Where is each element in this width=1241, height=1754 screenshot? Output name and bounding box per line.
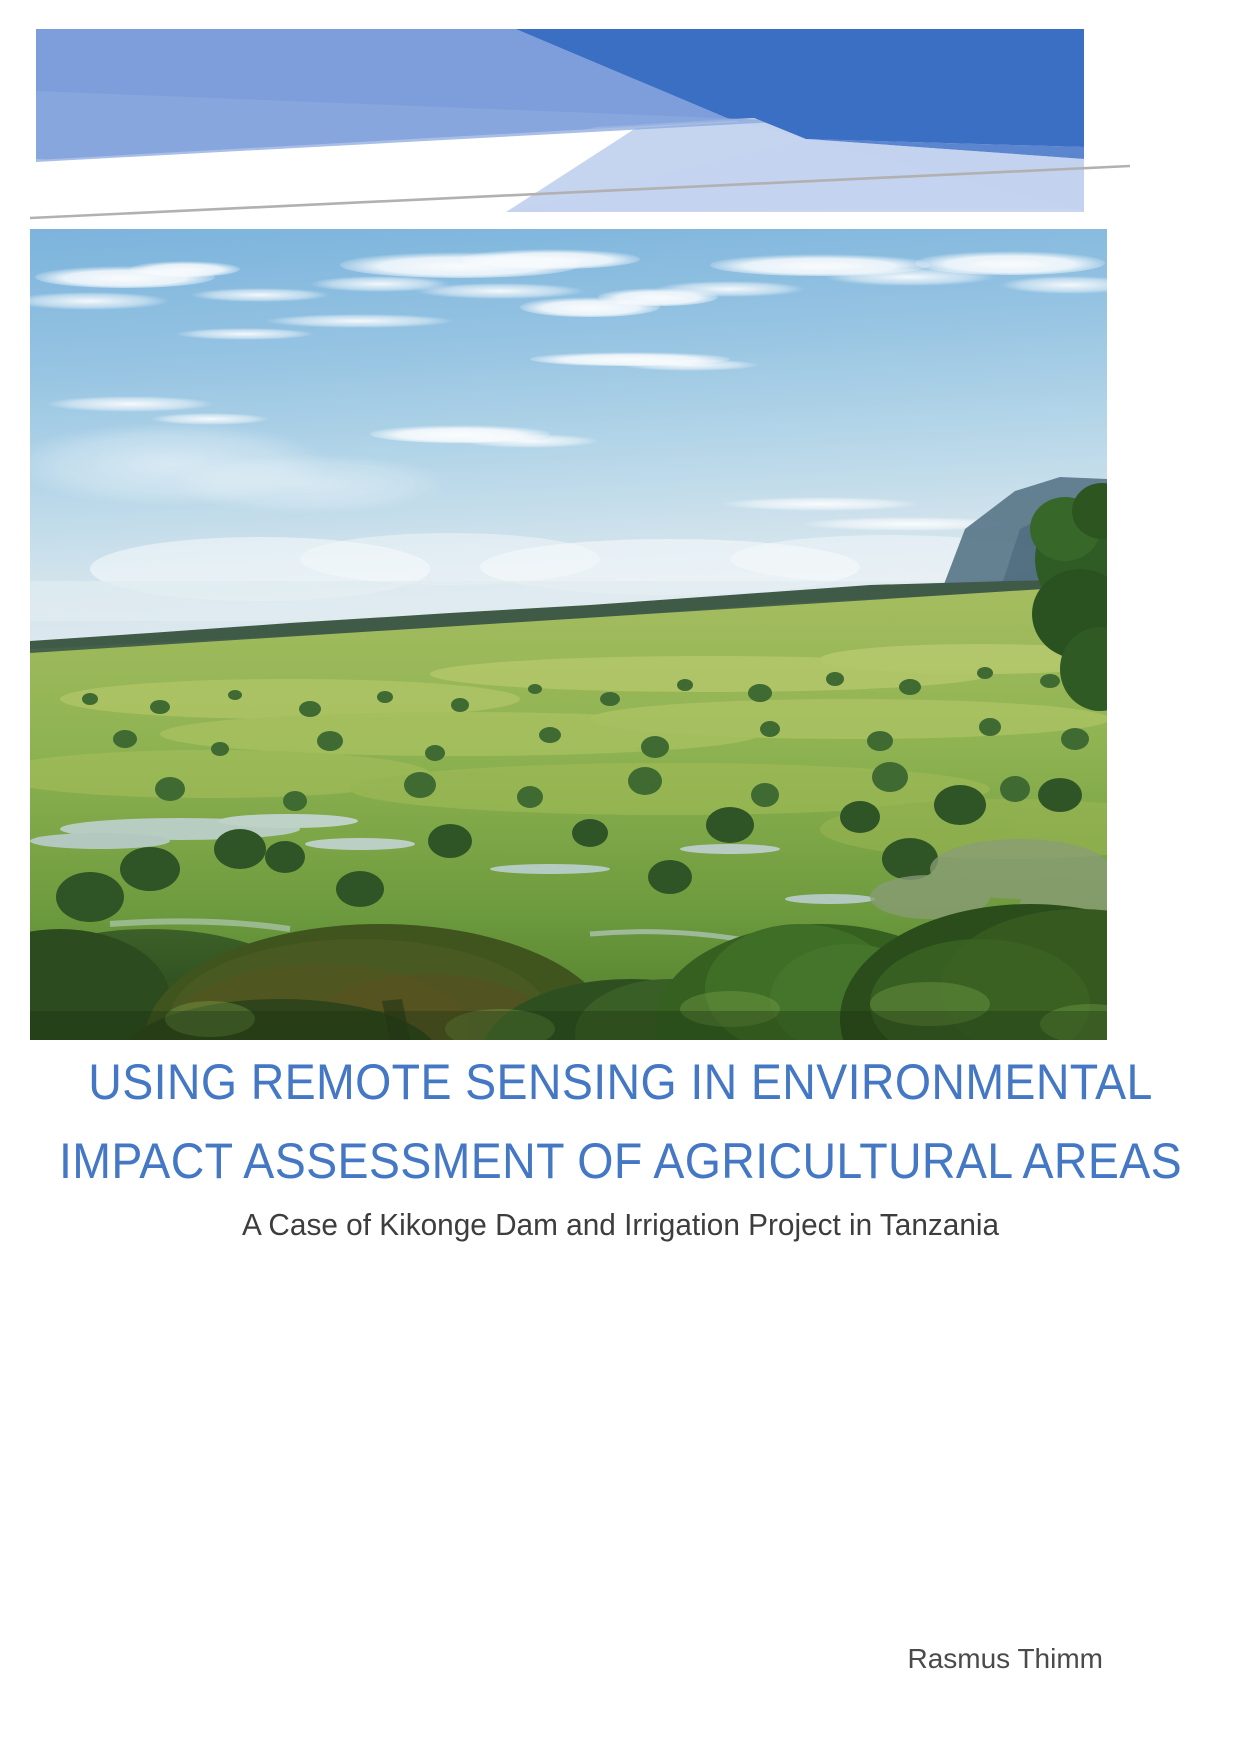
- landscape-photo-illustration: [30, 229, 1107, 1040]
- page-title-line-1: USING REMOTE SENSING IN ENVIRONMENTAL: [43, 1043, 1197, 1122]
- page-subtitle: A Case of Kikonge Dam and Irrigation Pro…: [25, 1203, 1216, 1247]
- page-title-line-2: IMPACT ASSESSMENT OF AGRICULTURAL AREAS: [43, 1122, 1197, 1201]
- cover-page: USING REMOTE SENSING IN ENVIRONMENTAL IM…: [0, 0, 1241, 1754]
- page-title: USING REMOTE SENSING IN ENVIRONMENTAL IM…: [0, 1043, 1241, 1201]
- decorative-geometric-banner: [36, 29, 1084, 212]
- author-name: Rasmus Thimm: [907, 1640, 1103, 1678]
- tanzania-savanna-landscape-photo: [30, 229, 1107, 1040]
- banner-shapes: [36, 29, 1084, 212]
